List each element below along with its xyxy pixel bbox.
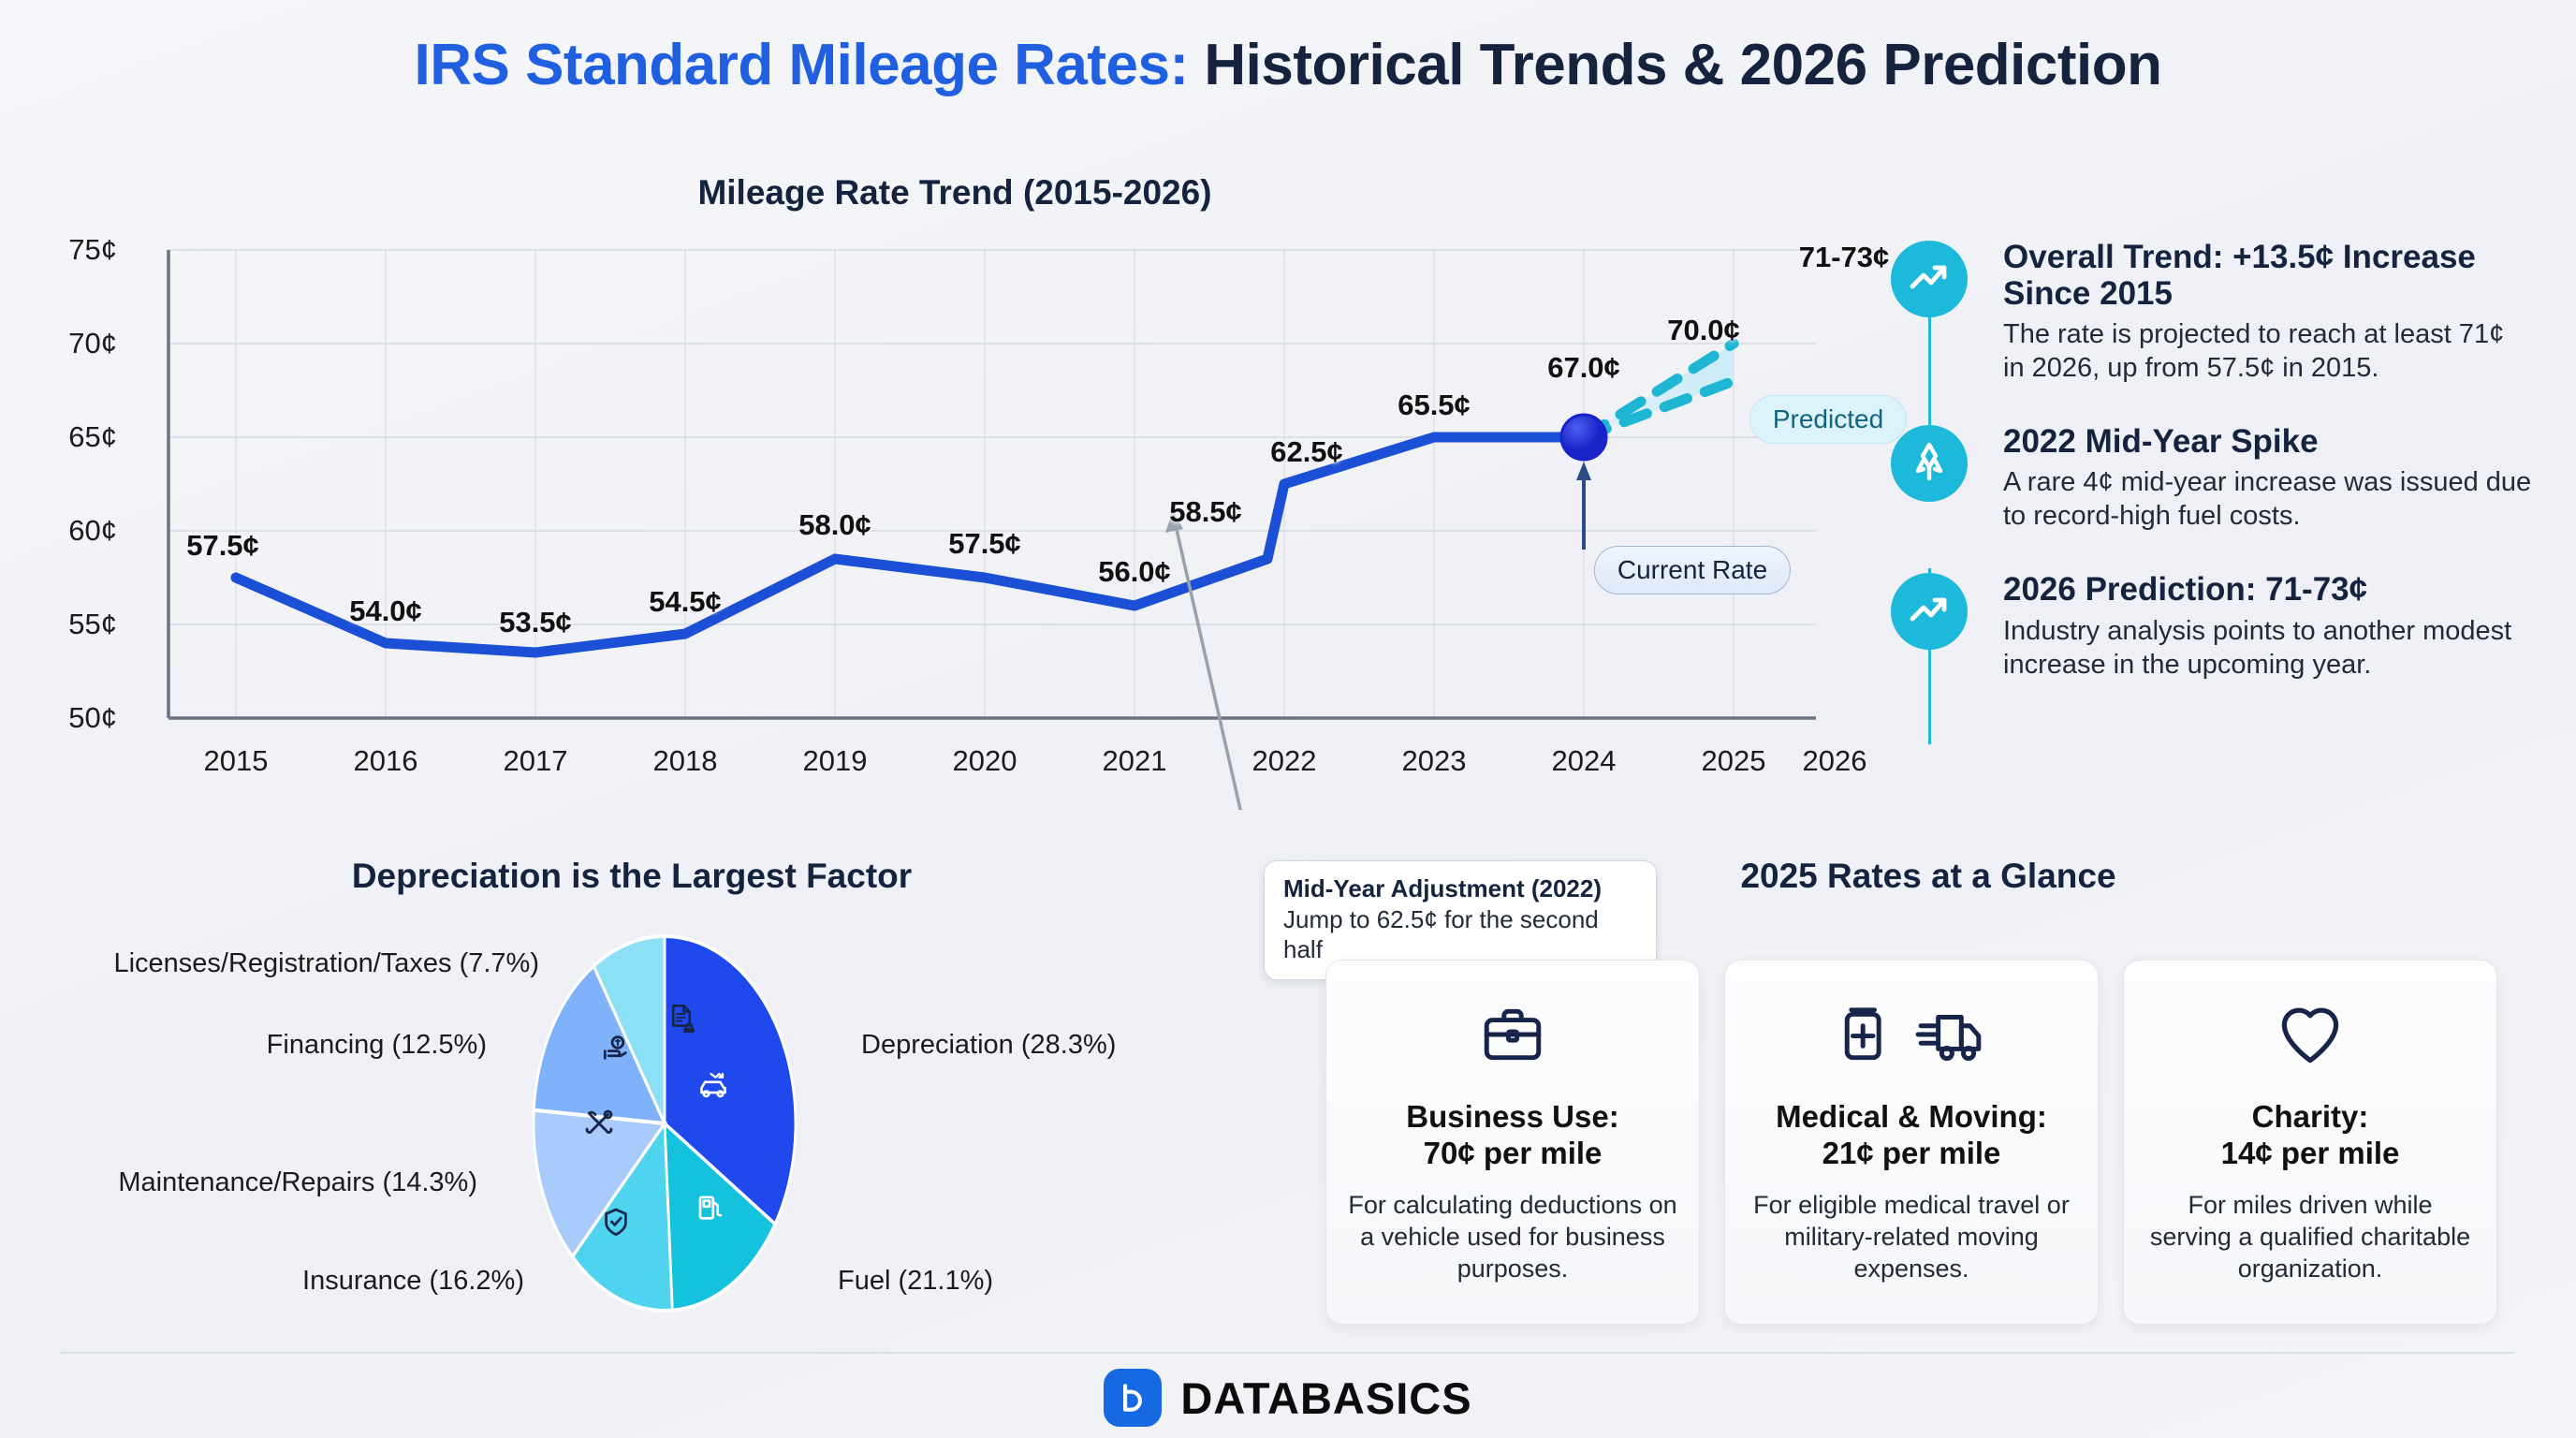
x-tick-2016: 2016 [354, 744, 418, 778]
page-title-primary: IRS Standard Mileage Rates: [415, 33, 1189, 97]
rocket-icon [1891, 425, 1968, 502]
databasics-logo-icon [1104, 1369, 1162, 1427]
pie-label-licenses: Licenses/Registration/Taxes (7.7%) [113, 948, 539, 979]
datalabel-2015: 57.5¢ [186, 529, 259, 563]
rate-card-medical-moving[interactable]: Medical & Moving: 21¢ per mile For eligi… [1724, 960, 2099, 1325]
rate-card-body-medical: For eligible medical travel or military-… [1746, 1189, 2077, 1284]
datalabel-prediction: 71-73¢ [1799, 241, 1890, 274]
mileage-trend-chart: Mileage Rate Trend (2015-2026) [56, 173, 1853, 810]
rate-card-charity[interactable]: Charity: 14¢ per mile For miles driven w… [2123, 960, 2497, 1325]
footer-divider [61, 1352, 2513, 1354]
rate-card-heading-charity: Charity: 14¢ per mile [2221, 1099, 2400, 1172]
x-tick-2019: 2019 [803, 744, 868, 778]
trending-up-icon [1891, 241, 1968, 317]
rate-card-body-charity: For miles driven while serving a qualifi… [2144, 1189, 2476, 1284]
briefcase-icon [1478, 994, 1547, 1075]
datalabel-2022: 58.5¢ [1169, 495, 1242, 529]
datalabel-2020: 57.5¢ [948, 527, 1021, 561]
chart-plot-area: 75¢ 70¢ 65¢ 60¢ 55¢ 50¢ 2015 2016 2017 2… [56, 231, 1853, 810]
datalabel-2021: 56.0¢ [1098, 555, 1171, 589]
y-tick-65: 65¢ [5, 420, 117, 454]
brand-wordmark: DATABASICS [1180, 1372, 1471, 1424]
pie-label-maintenance: Maintenance/Repairs (14.3%) [118, 1167, 477, 1198]
rate-card-business[interactable]: Business Use: 70¢ per mile For calculati… [1325, 960, 1700, 1325]
rate-cards-section: 2025 Rates at a Glance Business Use: 70¢… [1310, 857, 2546, 1334]
predicted-badge[interactable]: Predicted [1749, 395, 1907, 444]
rate-card-heading-business: Business Use: 70¢ per mile [1406, 1099, 1618, 1172]
y-tick-50: 50¢ [5, 701, 117, 735]
cost-factors-pie-section: Depreciation is the Largest Factor [37, 857, 1226, 1334]
sidebar-body-1: The rate is projected to reach at least … [2003, 318, 2532, 386]
page-title-secondary: Historical Trends & 2026 Prediction [1204, 33, 2161, 97]
sidebar-heading-3: 2026 Prediction: 71-73¢ [2003, 571, 2532, 608]
y-tick-70: 70¢ [5, 327, 117, 360]
x-tick-2021: 2021 [1103, 744, 1167, 778]
pie-label-insurance: Insurance (16.2%) [302, 1266, 524, 1297]
datalabel-2017: 53.5¢ [499, 606, 572, 639]
chart-svg [56, 231, 1853, 810]
rate-cards-title: 2025 Rates at a Glance [1310, 857, 2546, 896]
current-rate-callout[interactable]: Current Rate [1594, 546, 1791, 594]
sidebar-body-2: A rare 4¢ mid-year increase was issued d… [2003, 466, 2532, 534]
x-tick-2025: 2025 [1702, 744, 1766, 778]
pie-label-fuel: Fuel (21.1%) [838, 1266, 993, 1297]
page-title: IRS Standard Mileage Rates: Historical T… [0, 32, 2576, 98]
trending-up-icon [1891, 573, 1968, 650]
page-header: IRS Standard Mileage Rates: Historical T… [0, 32, 2576, 98]
x-tick-2024: 2024 [1552, 744, 1617, 778]
x-tick-2017: 2017 [504, 744, 568, 778]
datalabel-2023: 65.5¢ [1398, 389, 1471, 422]
rate-card-heading-medical: Medical & Moving: 21¢ per mile [1776, 1099, 2047, 1172]
x-tick-2020: 2020 [953, 744, 1017, 778]
x-tick-2018: 2018 [653, 744, 718, 778]
datalabel-2024: 67.0¢ [1547, 351, 1620, 385]
sidebar-item-overall-trend[interactable]: Overall Trend: +13.5¢ Increase Since 201… [1886, 239, 2532, 386]
y-tick-60: 60¢ [5, 514, 117, 548]
sidebar-body-3: Industry analysis points to another mode… [2003, 615, 2532, 682]
chart-title: Mileage Rate Trend (2015-2026) [56, 173, 1853, 213]
heart-icon [2274, 994, 2347, 1075]
pie-label-depreciation: Depreciation (28.3%) [861, 1030, 1116, 1061]
chart-line-series [236, 437, 1584, 653]
datalabel-2016: 54.0¢ [349, 594, 422, 628]
footer: DATABASICS [0, 1369, 2576, 1427]
datalabel-2019: 58.0¢ [798, 508, 871, 542]
datalabel-2025: 70.0¢ [1667, 314, 1740, 347]
rate-card-body-business: For calculating deductions on a vehicle … [1347, 1189, 1678, 1284]
medical-truck-icon [1838, 994, 1984, 1075]
pie-chart-title: Depreciation is the Largest Factor [37, 857, 1226, 896]
sidebar-heading-1: Overall Trend: +13.5¢ Increase Since 201… [2003, 239, 2532, 312]
infographic-page: IRS Standard Mileage Rates: Historical T… [0, 0, 2576, 1438]
sidebar-heading-2: 2022 Mid-Year Spike [2003, 423, 2532, 460]
datalabel-2022-midyear: 62.5¢ [1270, 435, 1343, 469]
current-rate-arrow-head [1576, 462, 1591, 480]
pie-label-financing: Financing (12.5%) [267, 1030, 487, 1061]
y-tick-55: 55¢ [5, 608, 117, 641]
datalabel-2018: 54.5¢ [649, 585, 722, 619]
x-tick-2023: 2023 [1402, 744, 1467, 778]
x-tick-2026: 2026 [1803, 744, 1867, 778]
sidebar-item-midyear-spike[interactable]: 2022 Mid-Year Spike A rare 4¢ mid-year i… [1886, 423, 2532, 534]
key-insights-sidebar: Overall Trend: +13.5¢ Increase Since 201… [1886, 239, 2532, 682]
sidebar-item-2026-prediction[interactable]: 2026 Prediction: 71-73¢ Industry analysi… [1886, 571, 2532, 682]
pie-chart-svg [496, 927, 833, 1320]
current-rate-datapoint[interactable] [1561, 415, 1606, 460]
x-tick-2022: 2022 [1252, 744, 1317, 778]
x-tick-2015: 2015 [204, 744, 269, 778]
y-tick-75: 75¢ [5, 233, 117, 267]
